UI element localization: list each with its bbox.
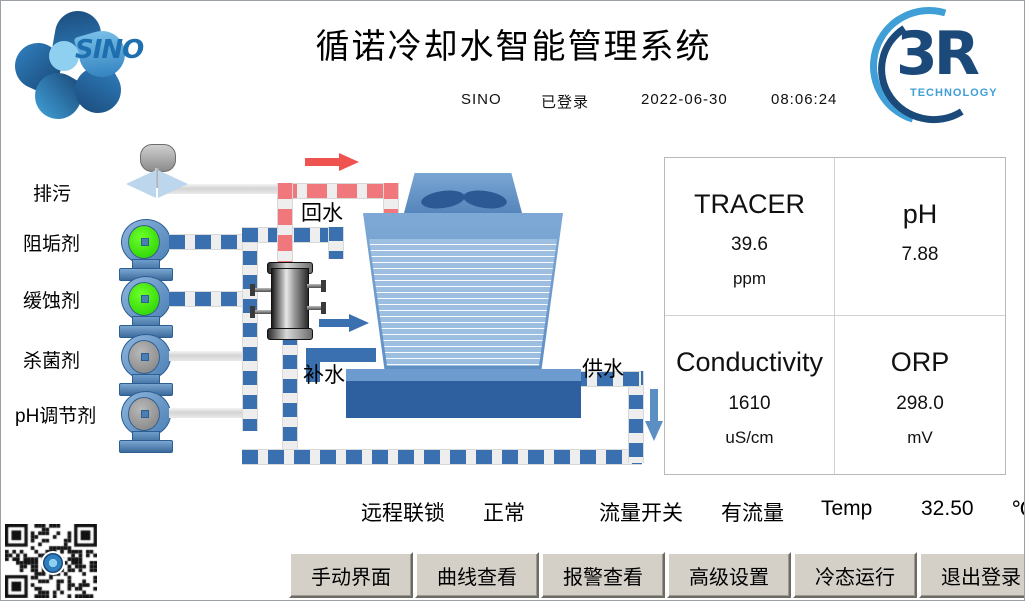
manual-interface-button[interactable]: 手动界面 bbox=[289, 552, 413, 598]
session-status: SINO 已登录 2022-06-30 08:06:24 bbox=[431, 91, 901, 115]
3r-technology-logo: 3R TECHNOLOGY bbox=[868, 5, 1018, 117]
measurement-name: pH bbox=[903, 198, 938, 232]
blowdown-valve[interactable] bbox=[126, 144, 188, 196]
dosing-line-antiscalant bbox=[169, 234, 247, 250]
pump-ph-adjuster[interactable] bbox=[119, 391, 171, 453]
supply-bottom-run bbox=[242, 449, 642, 465]
3r-logo-subtext: TECHNOLOGY bbox=[910, 87, 998, 99]
return-flow-arrow bbox=[305, 153, 361, 171]
logout-button[interactable]: 退出登录 bbox=[919, 552, 1025, 598]
pump-biocide[interactable] bbox=[119, 334, 171, 396]
cooling-tower-basin bbox=[346, 381, 581, 418]
alarm-view-button[interactable]: 报警查看 bbox=[541, 552, 665, 598]
measurement-conductivity: Conductivity 1610 uS/cm bbox=[665, 316, 835, 474]
label-blowdown: 排污 bbox=[33, 179, 71, 206]
vessel-outlet-drop bbox=[282, 331, 298, 461]
measurement-name: TRACER bbox=[694, 188, 805, 222]
measurement-unit: ppm bbox=[733, 269, 766, 289]
temperature-label: Temp bbox=[821, 497, 872, 521]
label-corrosion-inhibitor: 缓蚀剂 bbox=[23, 286, 80, 313]
temperature-value: 32.50 bbox=[921, 497, 974, 521]
current-time: 08:06:24 bbox=[771, 91, 837, 108]
login-status: 已登录 bbox=[541, 91, 589, 112]
measurement-unit: mV bbox=[907, 428, 933, 448]
cold-start-button[interactable]: 冷态运行 bbox=[793, 552, 917, 598]
label-supply-water: 供水 bbox=[582, 353, 624, 383]
measurement-unit: uS/cm bbox=[725, 428, 773, 448]
pump-antiscalant[interactable] bbox=[119, 219, 171, 281]
measurement-tracer: TRACER 39.6 ppm bbox=[665, 158, 835, 316]
remote-interlock-label: 远程联锁 bbox=[361, 497, 445, 527]
measurement-value: 7.88 bbox=[902, 244, 939, 266]
qr-code bbox=[5, 524, 97, 598]
dosing-line-ph-adjuster bbox=[169, 408, 247, 418]
dosing-line-biocide bbox=[169, 351, 247, 361]
dosing-line-corrosion-inhibitor bbox=[169, 291, 247, 307]
measurement-ph: pH 7.88 bbox=[835, 158, 1005, 316]
pump-corrosion-inhibitor[interactable] bbox=[119, 276, 171, 338]
remote-interlock-value: 正常 bbox=[483, 497, 525, 527]
measurement-name: ORP bbox=[891, 346, 950, 380]
button-bar: 手动界面 曲线查看 报警查看 高级设置 冷态运行 退出登录 bbox=[289, 552, 1025, 598]
label-biocide: 杀菌剂 bbox=[23, 346, 80, 373]
label-ph-adjuster: pH调节剂 bbox=[15, 401, 96, 428]
measurement-value: 39.6 bbox=[731, 234, 768, 256]
current-date: 2022-06-30 bbox=[641, 91, 728, 108]
flow-switch-label: 流量开关 bbox=[599, 497, 683, 527]
label-antiscalant: 阻垢剂 bbox=[23, 229, 80, 256]
hmi-screen: SINO 循诺冷却水智能管理系统 SINO 已登录 2022-06-30 08:… bbox=[0, 0, 1025, 601]
user-name: SINO bbox=[461, 91, 502, 108]
temperature-unit: ℃ bbox=[1011, 497, 1025, 522]
measurement-orp: ORP 298.0 mV bbox=[835, 316, 1005, 474]
measurement-name: Conductivity bbox=[676, 346, 823, 380]
vessel-inlet-drop bbox=[328, 227, 344, 259]
label-return-water: 回水 bbox=[301, 197, 343, 227]
return-to-tower bbox=[383, 183, 399, 215]
measurement-panel: TRACER 39.6 ppm pH 7.88 Conductivity 161… bbox=[664, 157, 1006, 475]
measurement-value: 298.0 bbox=[896, 393, 944, 415]
dosing-riser bbox=[242, 227, 258, 431]
side-stream-filter[interactable] bbox=[267, 256, 311, 344]
makeup-flow-arrow bbox=[319, 314, 369, 332]
flow-switch-value: 有流量 bbox=[721, 497, 784, 527]
status-bar: 远程联锁 正常 流量开关 有流量 Temp 32.50 ℃ bbox=[351, 497, 1011, 527]
label-makeup-water: 补水 bbox=[303, 359, 345, 389]
cooling-tower-louvers bbox=[363, 239, 563, 366]
3r-logo-text: 3R bbox=[896, 19, 976, 89]
advanced-settings-button[interactable]: 高级设置 bbox=[667, 552, 791, 598]
trend-view-button[interactable]: 曲线查看 bbox=[415, 552, 539, 598]
qr-center-logo bbox=[41, 551, 65, 575]
supply-flow-arrow bbox=[645, 389, 663, 441]
measurement-value: 1610 bbox=[728, 393, 770, 415]
